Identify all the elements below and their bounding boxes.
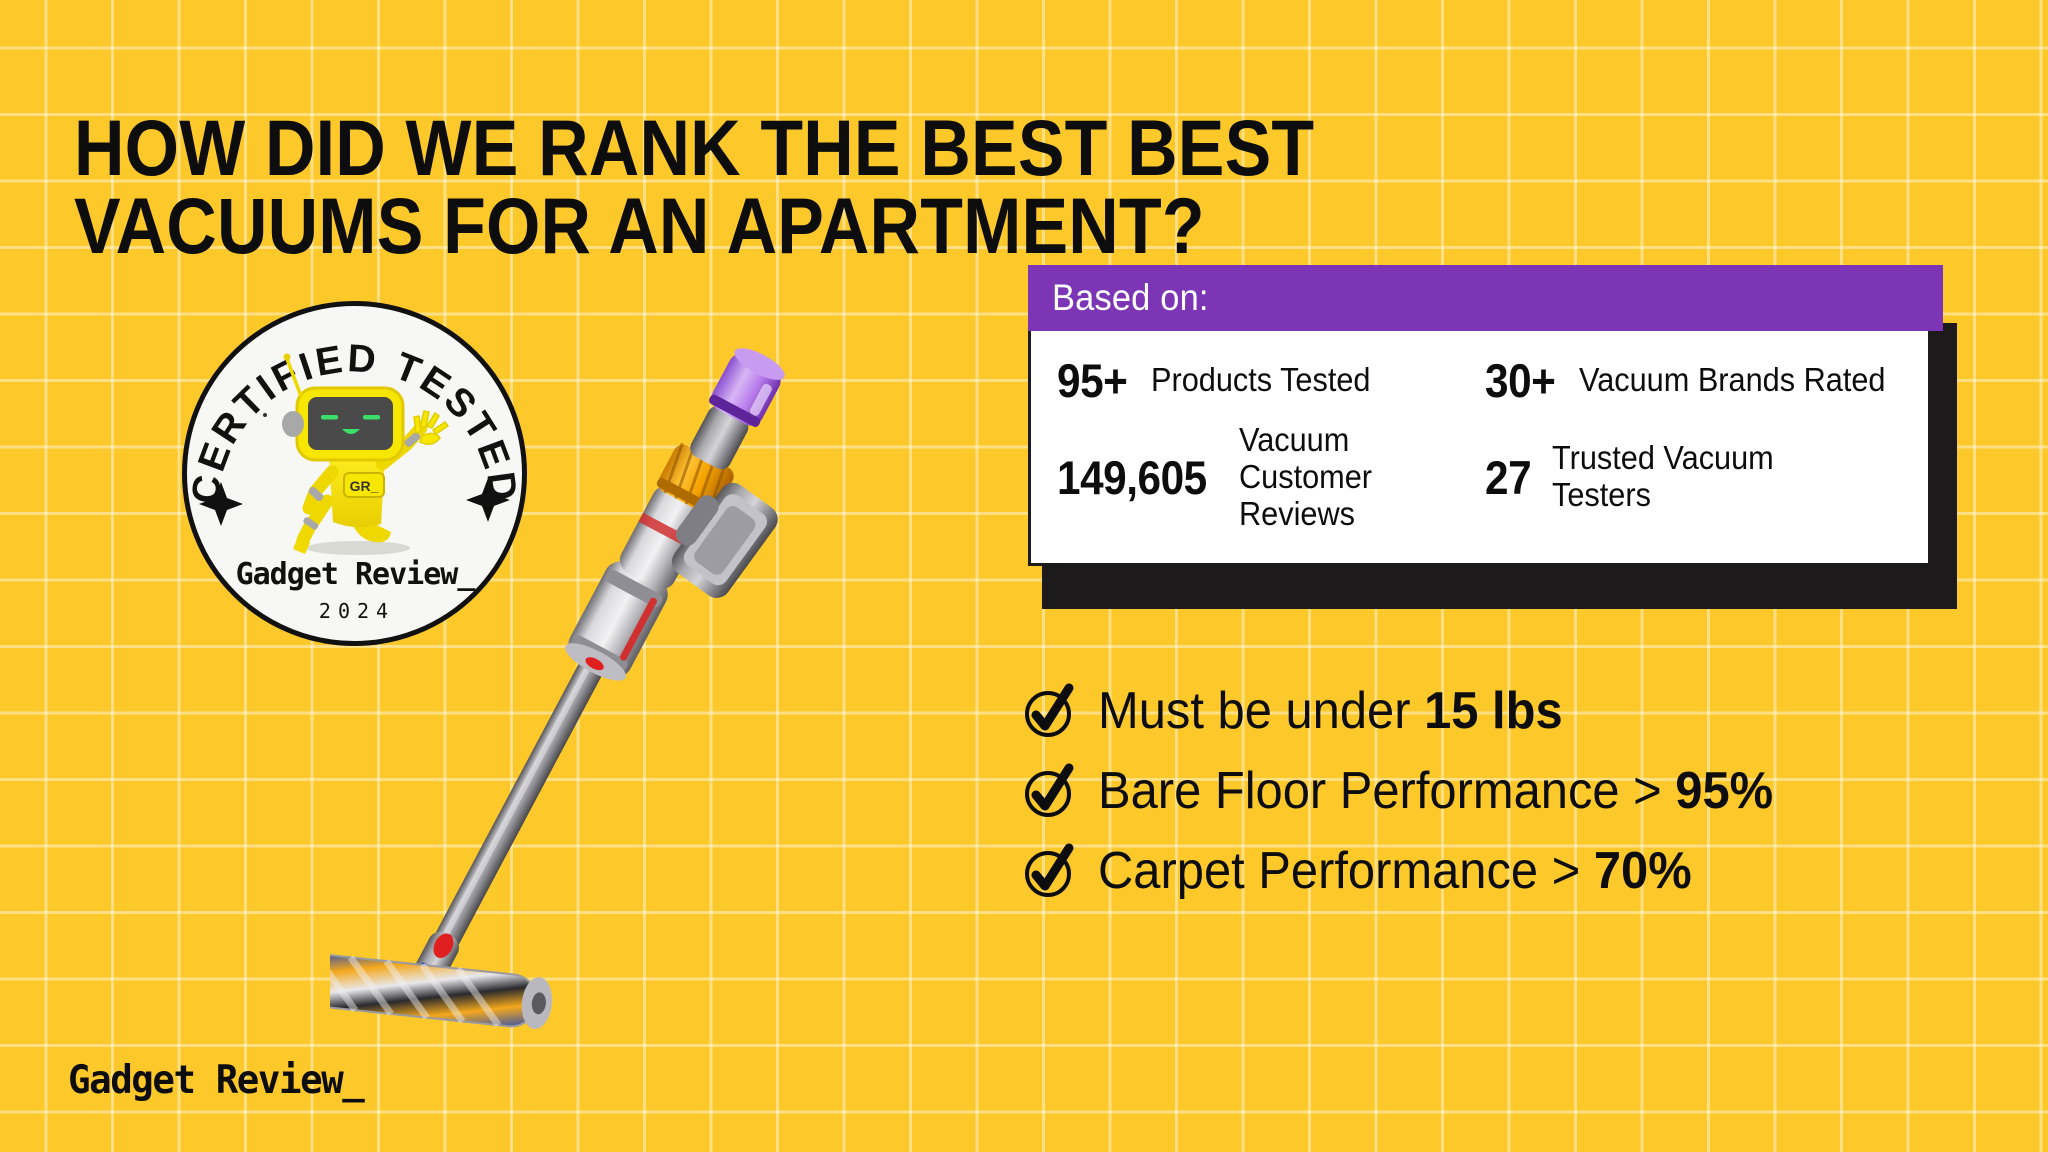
criteria-list: Must be under 15 lbs Bare Floor Performa… — [1020, 680, 1980, 920]
stats-row: 149,605 Vacuum Customer Reviews 27 Trust… — [1031, 422, 1928, 533]
stat-label: Vacuum Brands Rated — [1579, 362, 1886, 399]
stat-products-tested: 95+ Products Tested — [1031, 357, 1471, 404]
criteria-emphasis: 95% — [1675, 762, 1773, 820]
criteria-emphasis: 15 lbs — [1424, 682, 1563, 740]
criteria-emphasis: 70% — [1594, 842, 1692, 900]
stats-card-header: Based on: — [1028, 265, 1943, 331]
stat-customer-reviews: 149,605 Vacuum Customer Reviews — [1031, 422, 1471, 533]
stat-value: 27 — [1485, 454, 1531, 501]
check-circle-icon — [1020, 682, 1078, 740]
criteria-prefix: Bare Floor Performance > — [1098, 762, 1675, 820]
check-circle-icon — [1020, 762, 1078, 820]
criteria-text: Bare Floor Performance > 95% — [1098, 765, 1773, 817]
stats-card-body: 95+ Products Tested 30+ Vacuum Brands Ra… — [1028, 331, 1931, 566]
infographic-canvas: How did we rank the best best vacuums fo… — [0, 0, 2048, 1152]
stat-trusted-testers: 27 Trusted Vacuum Testers — [1471, 440, 1911, 514]
stat-label: Vacuum Customer Reviews — [1239, 422, 1454, 533]
criteria-text: Carpet Performance > 70% — [1098, 845, 1692, 897]
stats-card: Based on: 95+ Products Tested 30+ Vacuum… — [1028, 265, 1943, 566]
criteria-item-bare-floor: Bare Floor Performance > 95% — [1020, 760, 1980, 822]
criteria-item-carpet: Carpet Performance > 70% — [1020, 840, 1980, 902]
footer-logo: Gadget Review_ — [68, 1058, 363, 1103]
stick-vacuum-icon — [330, 262, 870, 1092]
criteria-prefix: Carpet Performance > — [1098, 842, 1594, 900]
check-circle-icon — [1020, 842, 1078, 900]
stat-value: 95+ — [1057, 357, 1127, 404]
stats-row: 95+ Products Tested 30+ Vacuum Brands Ra… — [1031, 357, 1928, 404]
page-title: How did we rank the best best vacuums fo… — [74, 109, 1331, 265]
stat-value: 30+ — [1485, 357, 1555, 404]
criteria-prefix: Must be under — [1098, 682, 1424, 740]
criteria-item-weight: Must be under 15 lbs — [1020, 680, 1980, 742]
stat-label: Trusted Vacuum Testers — [1552, 440, 1859, 514]
stat-label: Products Tested — [1151, 362, 1371, 399]
stats-card-header-label: Based on: — [1052, 277, 1209, 319]
stat-value: 149,605 — [1057, 454, 1207, 501]
criteria-text: Must be under 15 lbs — [1098, 685, 1563, 737]
stat-brands-rated: 30+ Vacuum Brands Rated — [1471, 357, 1911, 404]
